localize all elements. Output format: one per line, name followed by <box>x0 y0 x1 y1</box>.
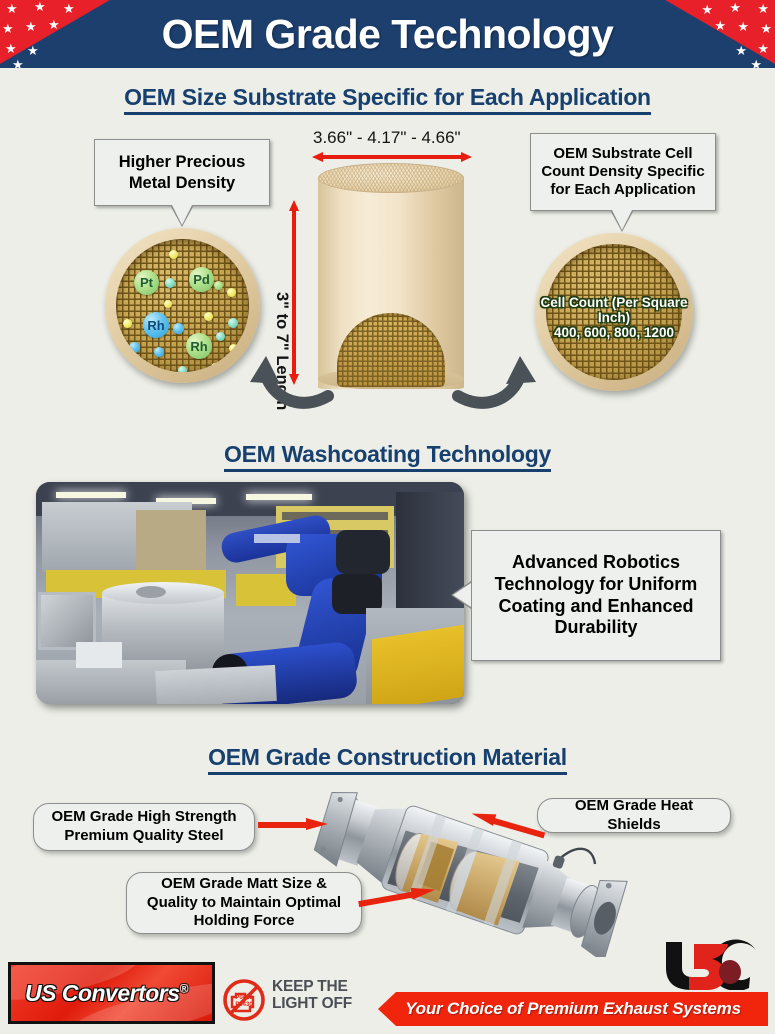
metal-sphere-rh-green: Rh <box>186 333 212 359</box>
callout-cell-count-density: OEM Substrate Cell Count Density Specifi… <box>530 133 716 211</box>
particle <box>129 342 140 353</box>
particle <box>178 366 187 372</box>
infographic-page: ★ ★ ★ ★ ★ ★ ★ ★ ★ ★ ★ ★ ★ ★ ★ ★ ★ ★ OEM … <box>0 0 775 1034</box>
particle <box>123 319 132 328</box>
particle <box>227 288 236 297</box>
section-heading-substrate-text: OEM Size Substrate Specific for Each App… <box>124 84 651 115</box>
usc-logo-icon <box>660 938 764 990</box>
arrow-head-right-icon <box>306 818 328 830</box>
keep-light-off-badge: P0420 P0430 KEEP THE LIGHT OFF <box>222 975 352 1023</box>
keep-light-off-line1: KEEP THE <box>272 979 352 996</box>
keep-light-off-line2: LIGHT OFF <box>272 996 352 1013</box>
particle <box>154 347 164 357</box>
photo-drum-port <box>136 586 166 598</box>
robot-wrist-tool <box>336 530 390 574</box>
callout-tail <box>612 210 632 230</box>
metal-sphere-rh-green-label: Rh <box>186 333 212 359</box>
section-heading-substrate: OEM Size Substrate Specific for Each App… <box>0 84 775 111</box>
page-header: ★ ★ ★ ★ ★ ★ ★ ★ ★ ★ ★ ★ ★ ★ ★ ★ ★ ★ OEM … <box>0 0 775 68</box>
tagline-banner: Your Choice of Premium Exhaust Systems <box>378 992 768 1026</box>
section-heading-construction-text: OEM Grade Construction Material <box>208 744 567 775</box>
photo-pallets <box>136 510 206 570</box>
callout-tail <box>172 205 192 225</box>
keep-light-off-text: KEEP THE LIGHT OFF <box>272 979 352 1012</box>
metal-sphere-pd: Pd <box>189 267 214 292</box>
particle <box>228 318 238 328</box>
section-heading-washcoating: OEM Washcoating Technology <box>0 441 775 468</box>
photo-yellow-conveyor-rail <box>372 625 464 704</box>
tagline-text: Your Choice of Premium Exhaust Systems <box>405 999 741 1019</box>
washcoating-robot-photo <box>36 482 464 704</box>
callout-advanced-robotics-text: Advanced Robotics Technology for Uniform… <box>482 552 710 640</box>
metal-sphere-pt: Pt <box>134 270 159 295</box>
curved-arrow-right-icon <box>452 330 542 410</box>
callout-heat-shields-text: OEM Grade Heat Shields <box>548 797 720 835</box>
callout-premium-steel-text: OEM Grade High Strength Premium Quality … <box>44 808 244 846</box>
callout-matt-size: OEM Grade Matt Size & Quality to Maintai… <box>126 872 362 934</box>
cylinder-honeycomb-cutaway <box>337 313 445 387</box>
cell-count-values: 400, 600, 800, 1200 <box>535 325 693 340</box>
metal-sphere-rh-blue-label: Rh <box>143 312 169 338</box>
diameter-label: 3.66" - 4.17" - 4.66" <box>313 128 461 148</box>
cylinder-top-face <box>318 163 464 193</box>
callout-heat-shields: OEM Grade Heat Shields <box>537 798 731 833</box>
registered-mark: ® <box>180 981 188 995</box>
arrow-shaft <box>321 155 463 159</box>
robot-brand-stripe <box>254 534 300 543</box>
particle <box>229 344 238 353</box>
particle <box>173 323 184 334</box>
check-engine-off-icon: P0420 P0430 <box>222 978 266 1022</box>
cell-count-disc: Cell Count (Per Square Inch) 400, 600, 8… <box>535 233 693 391</box>
arrow-head-right-icon <box>461 152 472 162</box>
particle <box>144 367 153 372</box>
particle <box>211 363 219 371</box>
page-title: OEM Grade Technology <box>0 0 775 68</box>
metal-sphere-pt-label: Pt <box>134 270 159 295</box>
diameter-arrow <box>312 152 472 162</box>
cell-count-title: Cell Count (Per Square Inch) <box>535 295 693 325</box>
particle <box>169 250 178 259</box>
ceiling-light <box>246 494 312 500</box>
photo-keyboard <box>76 642 122 668</box>
section-heading-construction: OEM Grade Construction Material <box>0 744 775 771</box>
section-heading-washcoating-text: OEM Washcoating Technology <box>224 441 551 472</box>
callout-matt-size-text: OEM Grade Matt Size & Quality to Maintai… <box>137 875 351 931</box>
particle <box>216 332 225 341</box>
particle <box>165 278 175 288</box>
precious-metal-disc: Pt Pd Rh Rh <box>105 228 260 383</box>
brand-name-text: US Convertors <box>25 980 180 1006</box>
particle <box>214 281 223 290</box>
disc-honeycomb-face: Pt Pd Rh Rh <box>116 239 249 372</box>
metal-sphere-rh-blue: Rh <box>143 312 169 338</box>
callout-cell-count-density-text: OEM Substrate Cell Count Density Specifi… <box>539 145 707 200</box>
callout-precious-metal-density-text: Higher Precious Metal Density <box>103 152 261 192</box>
red-arrow-to-steel <box>258 818 328 831</box>
brand-logo-box: US Convertors® <box>8 962 215 1024</box>
cell-count-overlay: Cell Count (Per Square Inch) 400, 600, 8… <box>535 295 693 340</box>
curved-arrow-left-icon <box>244 330 334 410</box>
callout-precious-metal-density: Higher Precious Metal Density <box>94 139 270 206</box>
callout-tail <box>453 583 471 607</box>
arrow-shaft <box>258 822 310 828</box>
photo-tray <box>155 665 277 704</box>
substrate-cylinder <box>318 163 464 403</box>
particle <box>204 312 213 321</box>
cylinder-body <box>318 177 464 389</box>
ceiling-light <box>56 492 126 498</box>
brand-name: US Convertors® <box>25 980 188 1007</box>
metal-sphere-pd-label: Pd <box>189 267 214 292</box>
callout-advanced-robotics: Advanced Robotics Technology for Uniform… <box>471 530 721 661</box>
callout-premium-steel: OEM Grade High Strength Premium Quality … <box>33 803 255 851</box>
particle <box>164 300 172 308</box>
